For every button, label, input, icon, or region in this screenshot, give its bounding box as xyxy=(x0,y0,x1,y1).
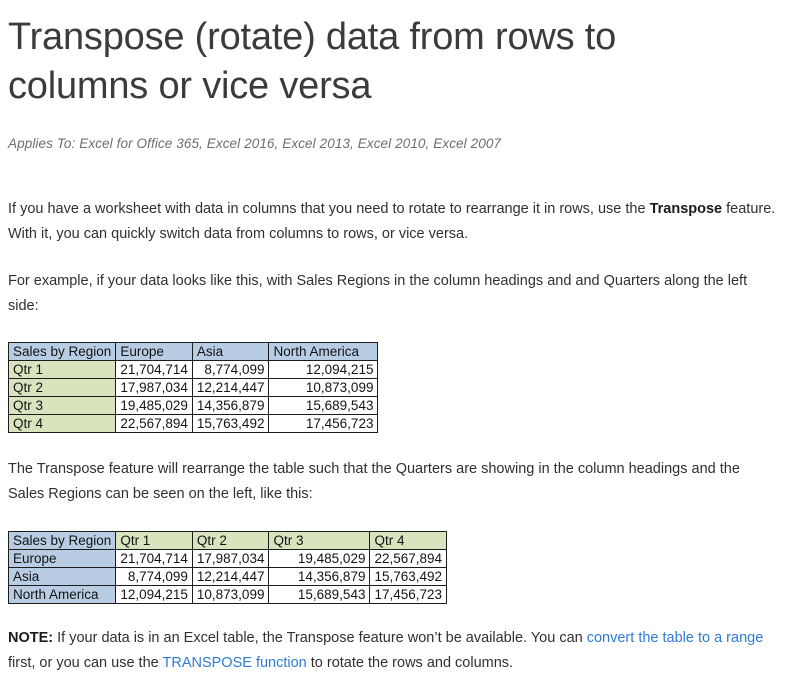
applies-to-line: Applies To: Excel for Office 365, Excel … xyxy=(8,111,795,151)
table-cell: 14,356,879 xyxy=(269,568,370,586)
note-text-2: first, or you can use the xyxy=(8,655,162,671)
paragraph-example: For example, if your data looks like thi… xyxy=(8,247,776,319)
intro-bold-term: Transpose xyxy=(650,201,723,217)
table-cell: 12,094,215 xyxy=(116,586,193,604)
table-row: Qtr 1 21,704,714 8,774,099 12,094,215 xyxy=(9,361,378,379)
article-page: Transpose (rotate) data from rows to col… xyxy=(0,0,803,687)
table-transposed-wrapper: Sales by Region Qtr 1 Qtr 2 Qtr 3 Qtr 4 … xyxy=(8,507,795,604)
table-cell: 19,485,029 xyxy=(269,550,370,568)
paragraph-intro: If you have a worksheet with data in col… xyxy=(8,151,776,247)
paragraph-note: NOTE: If your data is in an Excel table,… xyxy=(8,604,776,676)
table-column-header: Qtr 3 xyxy=(269,532,370,550)
note-text-1: If your data is in an Excel table, the T… xyxy=(53,630,587,646)
table-cell: 8,774,099 xyxy=(116,568,193,586)
table-cell: 22,567,894 xyxy=(370,550,447,568)
paragraph-rearrange: The Transpose feature will rearrange the… xyxy=(8,433,776,507)
table-row: Qtr 4 22,567,894 15,763,492 17,456,723 xyxy=(9,415,378,433)
table-row: North America 12,094,215 10,873,099 15,6… xyxy=(9,586,447,604)
table-column-header: Qtr 1 xyxy=(116,532,193,550)
table-cell: 10,873,099 xyxy=(269,379,378,397)
table-cell: 17,987,034 xyxy=(116,379,193,397)
table-cell: 8,774,099 xyxy=(192,361,269,379)
note-text-3: to rotate the rows and columns. xyxy=(307,655,513,671)
table-cell: 15,689,543 xyxy=(269,397,378,415)
table-row-header: Qtr 2 xyxy=(9,379,116,397)
table-cell: 17,456,723 xyxy=(269,415,378,433)
table-original-wrapper: Sales by Region Europe Asia North Americ… xyxy=(8,319,795,433)
note-label: NOTE: xyxy=(8,630,53,646)
link-transpose-function[interactable]: TRANSPOSE function xyxy=(162,655,306,671)
page-title: Transpose (rotate) data from rows to col… xyxy=(8,0,708,111)
table-corner-header: Sales by Region xyxy=(9,343,116,361)
table-column-header: Asia xyxy=(192,343,269,361)
table-cell: 12,214,447 xyxy=(192,379,269,397)
table-row-header: Qtr 3 xyxy=(9,397,116,415)
intro-text-before: If you have a worksheet with data in col… xyxy=(8,201,650,217)
table-cell: 15,763,492 xyxy=(192,415,269,433)
table-row-header: Europe xyxy=(9,550,116,568)
table-cell: 12,094,215 xyxy=(269,361,378,379)
table-cell: 17,987,034 xyxy=(192,550,269,568)
table-cell: 19,485,029 xyxy=(116,397,193,415)
table-row: Europe 21,704,714 17,987,034 19,485,029 … xyxy=(9,550,447,568)
table-header-row: Sales by Region Europe Asia North Americ… xyxy=(9,343,378,361)
table-cell: 10,873,099 xyxy=(192,586,269,604)
table-row-header: North America xyxy=(9,586,116,604)
table-cell: 14,356,879 xyxy=(192,397,269,415)
table-cell: 21,704,714 xyxy=(116,550,193,568)
table-column-header: Qtr 4 xyxy=(370,532,447,550)
table-row-header: Asia xyxy=(9,568,116,586)
table-header-row: Sales by Region Qtr 1 Qtr 2 Qtr 3 Qtr 4 xyxy=(9,532,447,550)
table-row-header: Qtr 4 xyxy=(9,415,116,433)
table-row: Qtr 2 17,987,034 12,214,447 10,873,099 xyxy=(9,379,378,397)
link-convert-table-to-range[interactable]: convert the table to a range xyxy=(587,630,764,646)
table-cell: 15,763,492 xyxy=(370,568,447,586)
table-column-header: North America xyxy=(269,343,378,361)
table-cell: 22,567,894 xyxy=(116,415,193,433)
table-cell: 21,704,714 xyxy=(116,361,193,379)
table-original: Sales by Region Europe Asia North Americ… xyxy=(8,342,378,433)
table-row-header: Qtr 1 xyxy=(9,361,116,379)
table-cell: 15,689,543 xyxy=(269,586,370,604)
table-column-header: Europe xyxy=(116,343,193,361)
table-cell: 12,214,447 xyxy=(192,568,269,586)
table-row: Asia 8,774,099 12,214,447 14,356,879 15,… xyxy=(9,568,447,586)
table-transposed: Sales by Region Qtr 1 Qtr 2 Qtr 3 Qtr 4 … xyxy=(8,531,447,604)
table-row: Qtr 3 19,485,029 14,356,879 15,689,543 xyxy=(9,397,378,415)
table-corner-header: Sales by Region xyxy=(9,532,116,550)
table-column-header: Qtr 2 xyxy=(192,532,269,550)
table-cell: 17,456,723 xyxy=(370,586,447,604)
